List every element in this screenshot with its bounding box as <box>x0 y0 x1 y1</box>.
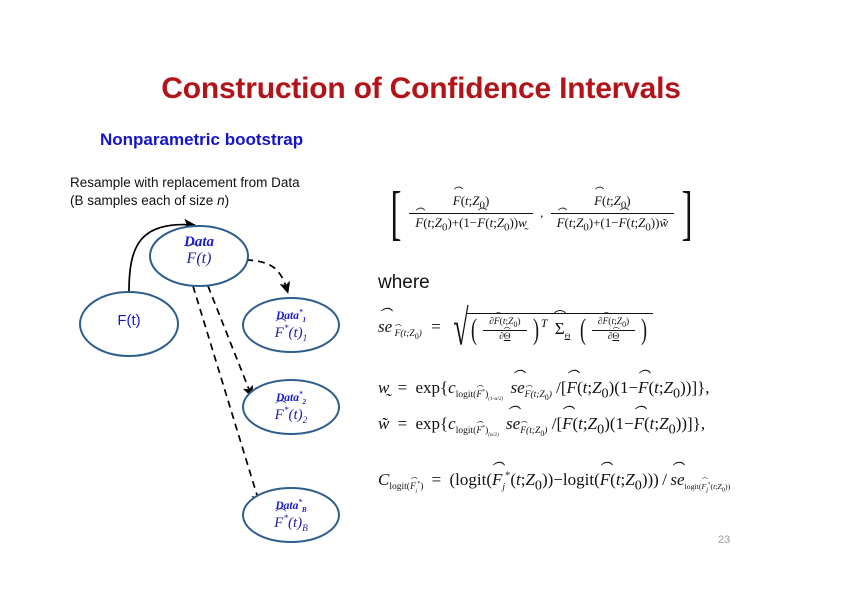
se-partial-1-den: ∂Θ <box>483 331 526 342</box>
wt-equals: = <box>394 414 412 433</box>
ci-fraction-lower: F(t;Z0) F(t;Z0)+(1−F(t;Z0))w̰ <box>409 193 533 233</box>
se-radicand: ( ∂F(t;Z0) ∂Θ )T ΣΘ ( ∂F(t;Z0) ∂Θ ) <box>467 313 654 342</box>
page-title: Construction of Confidence Intervals <box>0 72 842 106</box>
wt-divisor: /[F(t;Z0)(1−F(t;Z0))]}, <box>552 414 705 433</box>
paren-close-1: ) <box>533 319 539 342</box>
node-data-star-2[interactable] <box>243 380 339 434</box>
se-equals: = <box>426 317 446 336</box>
confidence-interval-formula: [ F(t;Z0) F(t;Z0)+(1−F(t;Z0))w̰ , F(t;Z0… <box>386 190 697 237</box>
right-bracket-icon: ] <box>682 190 693 237</box>
w-divisor: /[F(t;Z0)(1−F(t;Z0))]}, <box>556 378 709 397</box>
node-data[interactable] <box>150 226 248 286</box>
w-se: seF(t;Z0) <box>507 378 551 397</box>
wt-exp: exp <box>415 414 440 433</box>
paren-close-2: ) <box>641 319 647 342</box>
caption-line-1: Resample with replacement from Data <box>70 175 300 190</box>
caption-line-2-italic: n <box>217 193 225 208</box>
w-c-subscript: logit(F*)(1-α/2) <box>456 390 504 400</box>
paren-open-2: ( <box>580 319 586 342</box>
se-transpose: T <box>541 316 548 330</box>
where-label: where <box>378 272 430 294</box>
wt-c-subscript: logit(F*)(α/2) <box>456 426 499 436</box>
edge-data-to-data2 <box>208 286 252 397</box>
w-equals: = <box>394 378 412 397</box>
wt-se: seF(t;Z0) <box>503 414 547 433</box>
w-exp: exp <box>415 378 440 397</box>
w-c: c <box>448 378 456 397</box>
caption-line-2-suffix: ) <box>225 193 230 208</box>
w-lower-formula: w̰ = exp{clogit(F*)(1-α/2) seF(t;Z0) /[F… <box>378 378 710 402</box>
se-symbol: se <box>378 317 392 337</box>
radical-icon: √ <box>453 313 468 343</box>
slide-subtitle: Nonparametric bootstrap <box>100 130 303 150</box>
se-partial-2: ∂F(t;Z0) ∂Θ <box>592 317 635 342</box>
wt-lhs: w̃ <box>378 414 389 433</box>
edge-data-to-data1 <box>246 260 288 293</box>
w-se-subscript: F(t;Z0) <box>525 390 552 400</box>
paren-open-1: ( <box>471 319 477 342</box>
c-rhs: (logit(Fj*(t;Z0))−logit(F(t;Z0))) / se <box>450 470 685 489</box>
se-subscript: F(t;Z0) <box>392 329 422 339</box>
c-lhs: C <box>378 470 389 489</box>
ci-numerator-right: F(t;Z0) <box>551 193 675 214</box>
ci-separator: , <box>536 205 547 221</box>
resample-caption: Resample with replacement from Data (B s… <box>70 174 380 210</box>
c-rhs-subscript: logit(Fj*(t;Z0)) <box>685 482 731 491</box>
wt-se-subscript: F(t;Z0) <box>520 426 547 436</box>
ci-numerator-left: F(t;Z0) <box>409 193 533 214</box>
w-lhs: w̰ <box>378 378 389 397</box>
ci-denominator-right: F(t;Z0)+(1−F(t;Z0))w̃ <box>551 214 675 234</box>
wt-c: c <box>448 414 456 433</box>
page-number: 23 <box>718 534 730 546</box>
c-lhs-subscript: logit(Fj*) <box>389 482 423 492</box>
node-data-star-b[interactable] <box>243 488 339 542</box>
se-partial-2-den: ∂Θ <box>592 331 635 342</box>
c-equals: = <box>428 470 446 489</box>
node-f-t[interactable] <box>80 292 178 356</box>
c-statistic-formula: Clogit(Fj*) = (logit(Fj*(t;Z0))−logit(F(… <box>378 470 730 494</box>
ci-fraction-upper: F(t;Z0) F(t;Z0)+(1−F(t;Z0))w̃ <box>551 193 675 233</box>
standard-error-formula: se F(t;Z0) = √ ( ∂F(t;Z0) ∂Θ )T ΣΘ ( ∂F(… <box>378 313 653 342</box>
bootstrap-resampling-diagram: F(t) Data F(t) Data*1 F*(t)1 Data*2 F*(t… <box>60 215 400 545</box>
se-partial-1: ∂F(t;Z0) ∂Θ <box>483 317 526 342</box>
se-sigma: ΣΘ <box>552 319 574 338</box>
se-sigma-subscript: Θ <box>565 331 571 340</box>
node-data-star-1[interactable] <box>243 298 339 352</box>
diagram-canvas <box>60 215 400 545</box>
ci-denominator-left: F(t;Z0)+(1−F(t;Z0))w̰ <box>409 214 533 234</box>
left-bracket-icon: [ <box>390 190 401 237</box>
w-tilde-formula: w̃ = exp{clogit(F*)(α/2) seF(t;Z0) /[F(t… <box>378 414 705 438</box>
caption-line-2-prefix: (B samples each of size <box>70 193 217 208</box>
